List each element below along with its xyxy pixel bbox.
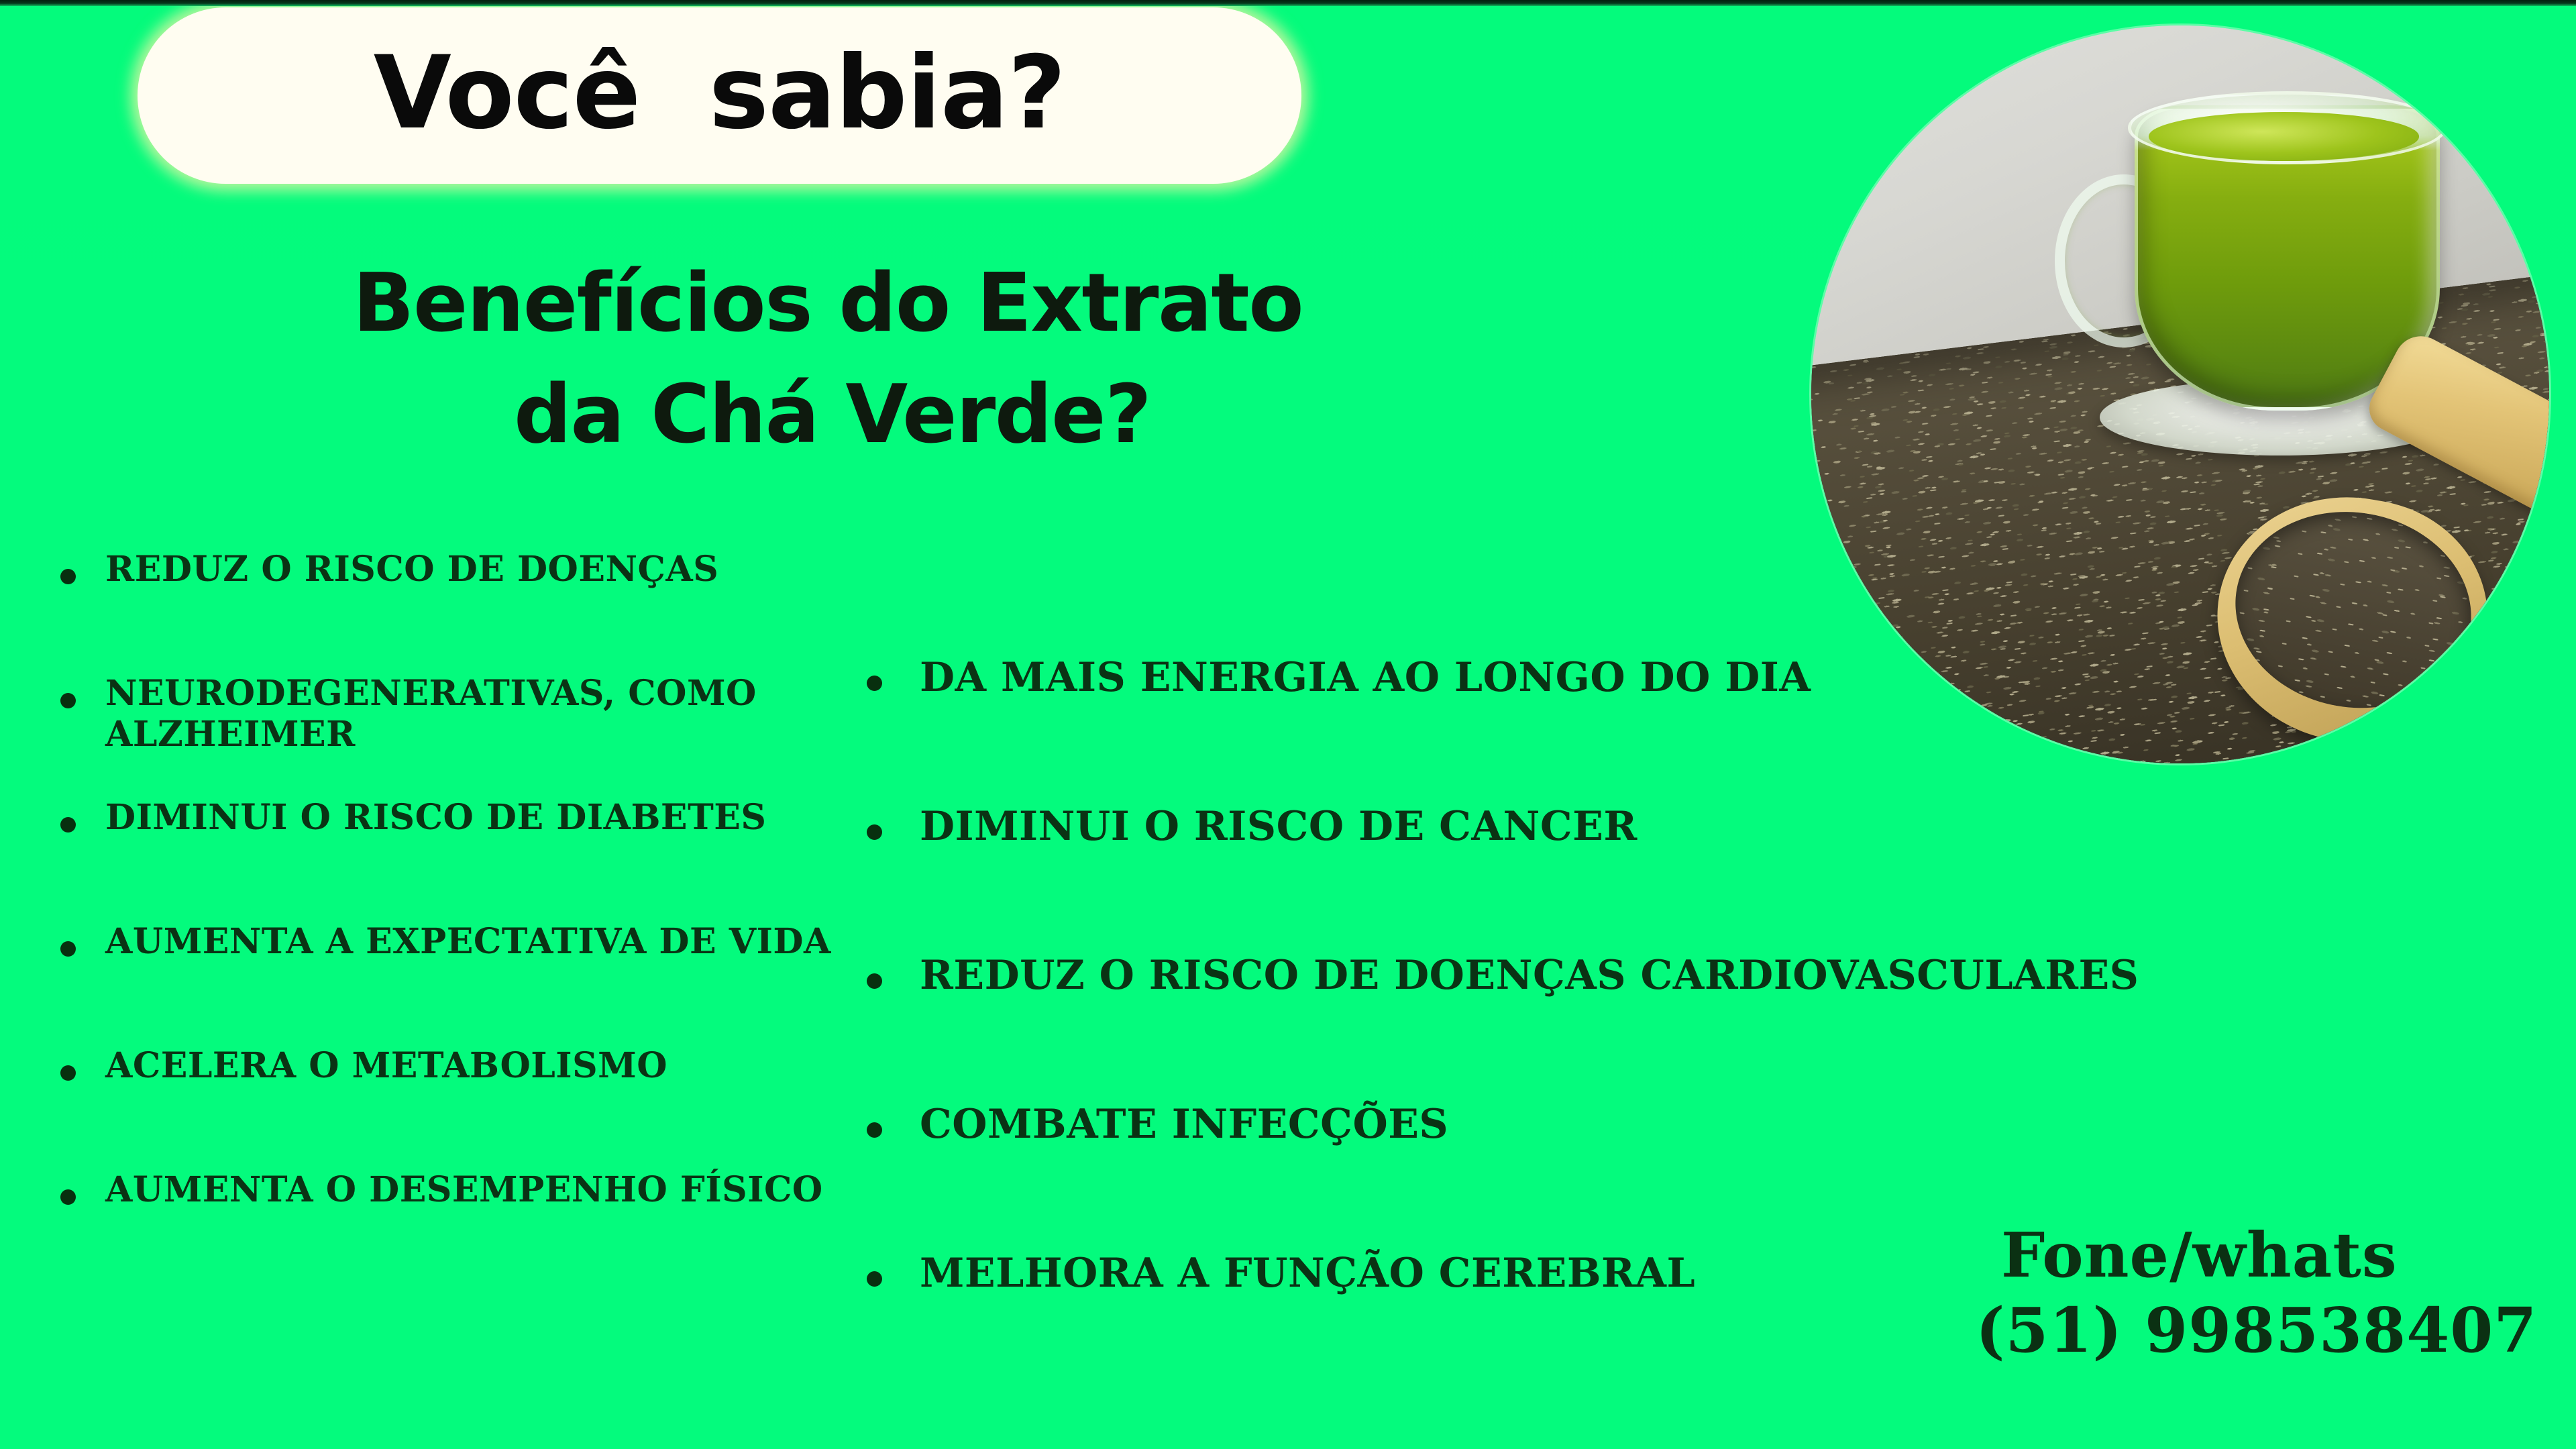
- list-item: REDUZ O RISCO DE DOENÇAS CARDIOVASCULARE…: [867, 952, 2208, 1101]
- list-item: AUMENTA A EXPECTATIVA DE VIDA: [60, 921, 852, 1045]
- green-tea-photo: [1811, 25, 2549, 763]
- contact-block: Fone/whats (51) 998538407: [1976, 1218, 2537, 1368]
- benefits-list-left: REDUZ O RISCO DE DOENÇAS NEURODEGENERATI…: [60, 549, 852, 1293]
- tea-surface: [2149, 112, 2419, 160]
- top-edge-band: [0, 0, 2576, 6]
- bullet-dot-icon: [867, 1122, 882, 1138]
- contact-label: Fone/whats: [1976, 1218, 2537, 1293]
- bullet-dot-icon: [867, 824, 882, 840]
- benefit-text: ACELERA O METABOLISMO: [105, 1045, 667, 1086]
- list-item: AUMENTA O DESEMPENHO FÍSICO: [60, 1169, 852, 1293]
- contact-number[interactable]: (51) 998538407: [1976, 1293, 2537, 1368]
- list-item: REDUZ O RISCO DE DOENÇAS: [60, 549, 852, 673]
- title-pill: Você sabia?: [138, 7, 1301, 184]
- scoop-bowl: [2198, 476, 2506, 763]
- benefit-text: COMBATE INFECÇÕES: [920, 1101, 1448, 1148]
- benefit-text: DIMINUI O RISCO DE CANCER: [920, 803, 1638, 851]
- list-item: ACELERA O METABOLISMO: [60, 1045, 852, 1169]
- page-title: Você sabia?: [374, 43, 1066, 144]
- benefit-text: NEURODEGENERATIVAS, COMO ALZHEIMER: [105, 673, 852, 755]
- benefit-text: MELHORA A FUNÇÃO CEREBRAL: [920, 1250, 1695, 1297]
- wooden-scoop: [2217, 380, 2549, 749]
- bullet-dot-icon: [867, 676, 882, 691]
- benefit-text: DIMINUI O RISCO DE DIABETES: [105, 797, 766, 838]
- photo-scene: [1811, 25, 2549, 763]
- subtitle-line-1: Benefícios do Extrato: [349, 248, 1489, 360]
- benefit-text: REDUZ O RISCO DE DOENÇAS CARDIOVASCULARE…: [920, 952, 2139, 1000]
- list-item: NEURODEGENERATIVAS, COMO ALZHEIMER: [60, 673, 852, 797]
- subtitle-line-2: da Chá Verde?: [349, 360, 1489, 471]
- benefit-text: DA MAIS ENERGIA AO LONGO DO DIA: [920, 654, 1811, 702]
- bullet-dot-icon: [60, 941, 76, 957]
- bullet-dot-icon: [60, 1065, 76, 1081]
- bullet-dot-icon: [867, 973, 882, 989]
- subtitle-heading: Benefícios do Extrato da Chá Verde?: [349, 248, 1489, 470]
- bullet-dot-icon: [867, 1271, 882, 1287]
- bullet-dot-icon: [60, 569, 76, 584]
- benefit-text: AUMENTA O DESEMPENHO FÍSICO: [105, 1169, 823, 1210]
- bullet-dot-icon: [60, 693, 76, 708]
- benefit-text: REDUZ O RISCO DE DOENÇAS: [105, 549, 718, 590]
- bullet-dot-icon: [60, 817, 76, 833]
- bullet-dot-icon: [60, 1189, 76, 1205]
- list-item: DIMINUI O RISCO DE DIABETES: [60, 797, 852, 921]
- green-tea-benefits-poster: Você sabia? Benefícios do Extrato da Chá…: [0, 0, 2576, 1449]
- list-item: DA MAIS ENERGIA AO LONGO DO DIA: [867, 654, 2208, 803]
- list-item: DIMINUI O RISCO DE CANCER: [867, 803, 2208, 952]
- benefit-text: AUMENTA A EXPECTATIVA DE VIDA: [105, 921, 831, 962]
